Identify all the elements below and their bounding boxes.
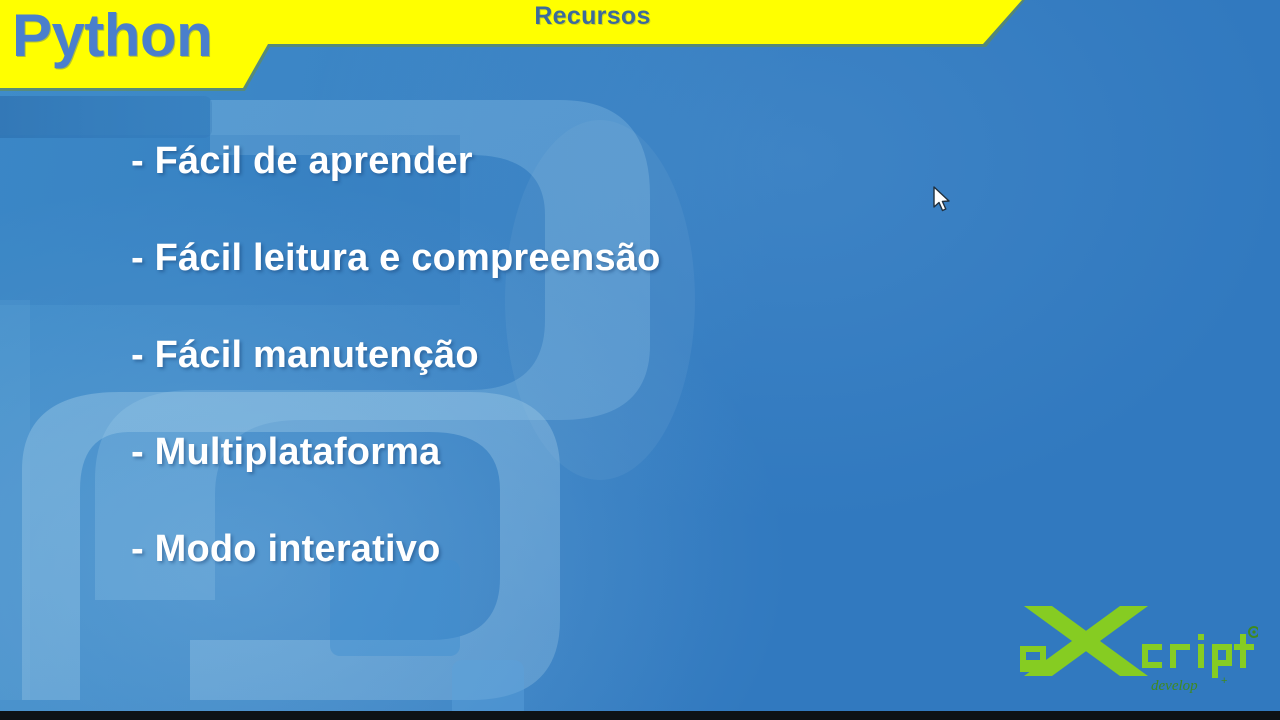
- mouse-pointer-icon: [932, 186, 954, 221]
- list-item: - Modo interativo: [131, 530, 661, 627]
- presentation-slide: Python Recursos - Fácil de aprender - Fá…: [0, 0, 1280, 720]
- logo-tagline-plus: +: [1221, 675, 1227, 687]
- registered-trademark-icon: [1249, 627, 1258, 637]
- logo-e-letter: [1020, 646, 1046, 672]
- section-title: Recursos: [0, 2, 1185, 31]
- list-item: - Fácil de aprender: [131, 142, 661, 239]
- logo-tagline: develop: [1151, 678, 1198, 694]
- letterbox-bar: [0, 711, 1280, 720]
- list-item: - Fácil leitura e compreensão: [131, 239, 661, 336]
- excript-logo: develop +: [1018, 600, 1258, 695]
- list-item: - Fácil manutenção: [131, 336, 661, 433]
- logo-cript-letters: [1142, 634, 1254, 678]
- list-item: - Multiplataforma: [131, 433, 661, 530]
- bullet-list: - Fácil de aprender - Fácil leitura e co…: [131, 142, 661, 627]
